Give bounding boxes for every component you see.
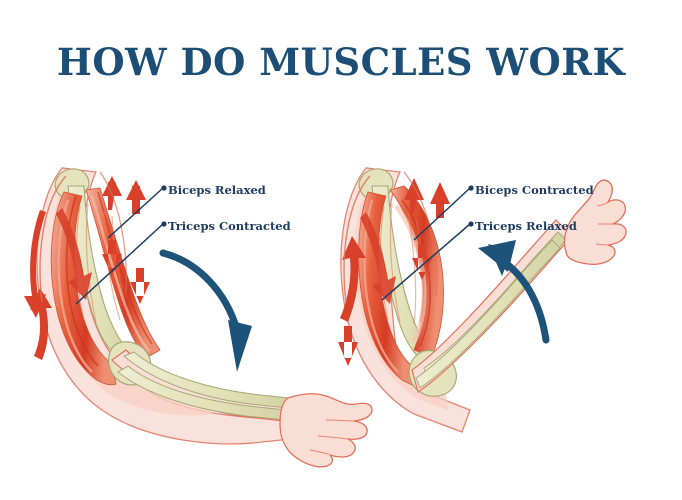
arm-flexed-group [338, 165, 626, 432]
leader-dot-triceps-right [468, 221, 473, 226]
leader-dot-biceps-right [468, 185, 473, 190]
label-triceps-contracted: Triceps Contracted [168, 219, 291, 233]
force-arrow-right-5 [430, 182, 450, 218]
leader-dot-triceps-left [161, 221, 166, 226]
leader-dot-biceps-left [161, 185, 166, 190]
motion-arrow-left [163, 253, 252, 372]
force-arrow-left-5 [126, 180, 146, 214]
label-biceps-relaxed: Biceps Relaxed [168, 183, 266, 197]
diagram-canvas: HOW DO MUSCLES WORK [0, 0, 682, 500]
arm-extended-group [24, 165, 372, 467]
arm-extended-illustration [0, 0, 682, 500]
hand-left [280, 394, 372, 467]
label-triceps-relaxed: Triceps Relaxed [475, 219, 577, 233]
label-biceps-contracted: Biceps Contracted [475, 183, 594, 197]
